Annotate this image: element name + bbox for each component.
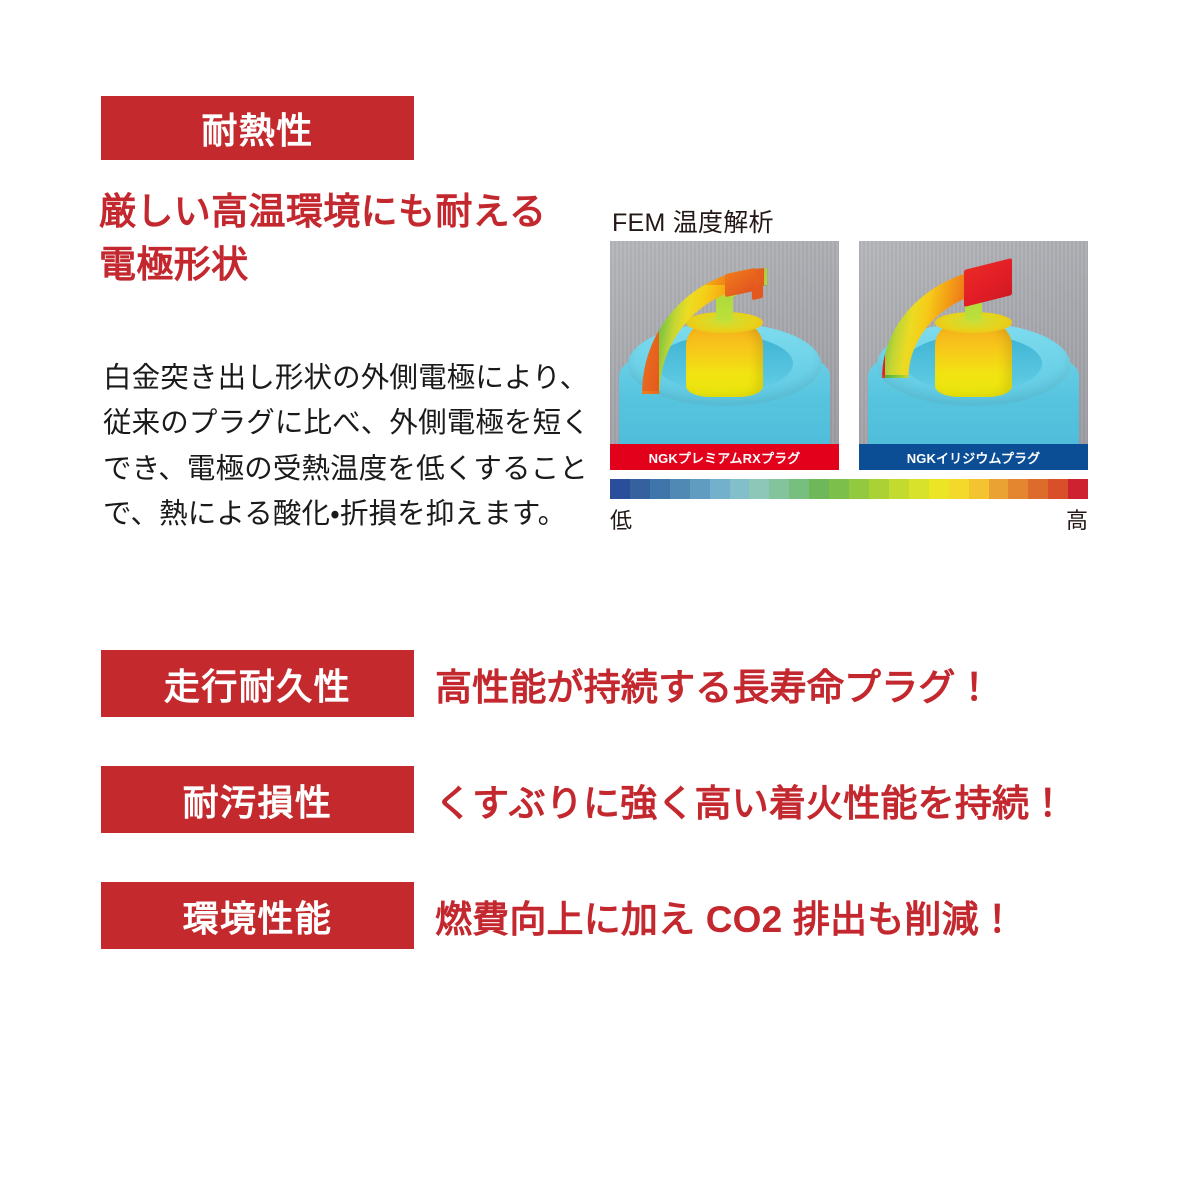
fem-panel-caption-premium-rx: NGKプレミアムRXプラグ [610,444,839,470]
fem-panel-group: NGKプレミアムRXプラグ NGKイリジウムプラグ [610,241,1088,470]
fem-panel-premium-rx: NGKプレミアムRXプラグ [610,241,839,470]
scale-segment-3 [670,479,690,499]
ground-electrode-tip-nub [752,283,763,299]
heat-resistance-body-text: 白金突き出し形状の外側電極により、従来のプラグに比べ、外側電極を短くでき、電極の… [103,356,593,538]
heat-resistance-badge-label: 耐熱性 [201,102,313,154]
scale-segment-5 [710,479,730,499]
scale-high-label: 高 [1066,503,1088,535]
feature-row: 耐汚損性 くすぶりに強く高い着火性能を持続！ [101,766,1081,833]
scale-segment-2 [650,479,670,499]
feature-badge-label: 走行耐久性 [164,658,351,710]
scale-segment-10 [809,479,829,499]
fem-panel-caption-iridium: NGKイリジウムプラグ [859,444,1088,470]
feature-description: 燃費向上に加え CO2 排出も削減！ [414,889,1081,943]
scale-segment-18 [969,479,989,499]
scale-segment-23 [1068,479,1088,499]
feature-row: 走行耐久性 高性能が持続する長寿命プラグ！ [101,650,1081,717]
scale-segment-14 [889,479,909,499]
scale-segment-17 [949,479,969,499]
scale-segment-13 [869,479,889,499]
temperature-scale-labels: 低 高 [610,503,1088,535]
scale-segment-15 [909,479,929,499]
scale-segment-1 [630,479,650,499]
feature-badge-durability: 走行耐久性 [101,650,414,717]
feature-description: くすぶりに強く高い着火性能を持続！ [414,773,1081,827]
fem-panel-iridium: NGKイリジウムプラグ [859,241,1088,470]
feature-badge-environmental: 環境性能 [101,882,414,949]
heat-resistance-badge: 耐熱性 [101,96,414,160]
scale-segment-6 [730,479,750,499]
scale-segment-9 [789,479,809,499]
scale-segment-12 [849,479,869,499]
fem-analysis-title: FEM 温度解析 [612,203,774,239]
scale-segment-16 [929,479,949,499]
scale-segment-19 [989,479,1009,499]
scale-segment-4 [690,479,710,499]
temperature-color-scale [610,479,1088,499]
scale-segment-20 [1008,479,1028,499]
heat-resistance-heading: 厳しい高温環境にも耐える電極形状 [99,186,599,291]
scale-low-label: 低 [610,503,632,535]
scale-segment-0 [610,479,630,499]
scale-segment-22 [1048,479,1068,499]
scale-segment-7 [749,479,769,499]
scale-segment-21 [1028,479,1048,499]
feature-description: 高性能が持続する長寿命プラグ！ [414,657,1081,711]
scale-segment-8 [769,479,789,499]
feature-row: 環境性能 燃費向上に加え CO2 排出も削減！ [101,882,1081,949]
scale-segment-11 [829,479,849,499]
feature-badge-label: 耐汚損性 [183,774,333,826]
feature-badge-label: 環境性能 [183,890,333,942]
feature-badge-fouling-resistance: 耐汚損性 [101,766,414,833]
